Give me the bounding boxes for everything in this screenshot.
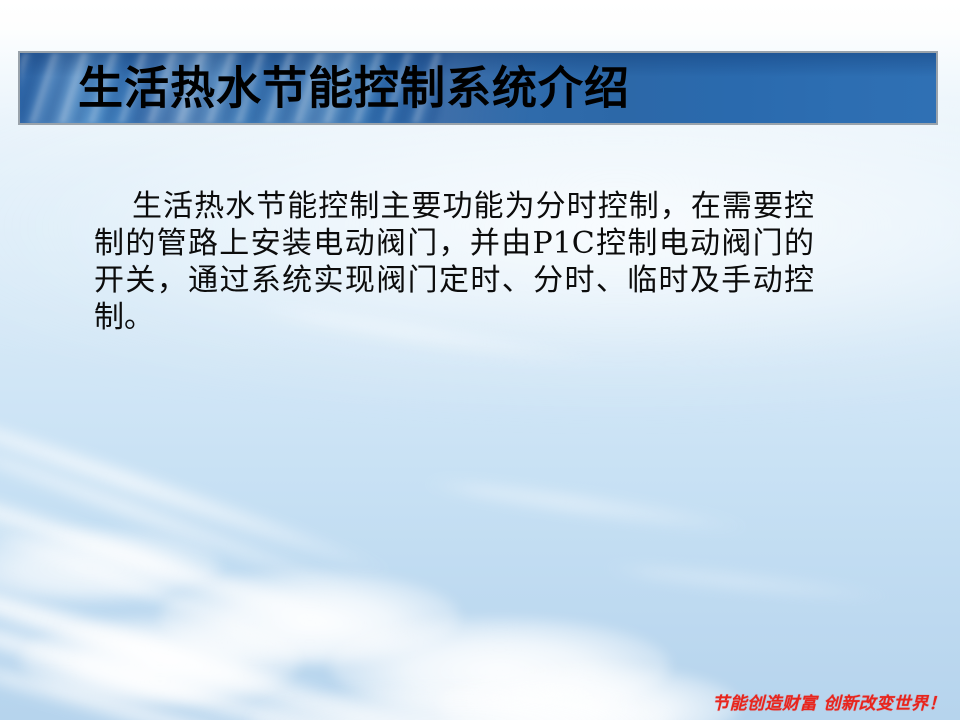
body-paragraph: 生活热水节能控制主要功能为分时控制，在需要控制的管路上安装电动阀门，并由P1C控… [94,188,814,336]
footer-slogan: 节能创造财富 创新改变世界！ [712,689,946,714]
presentation-slide: 生活热水节能控制系统介绍 生活热水节能控制主要功能为分时控制，在需要控制的管路上… [0,0,960,720]
page-title: 生活热水节能控制系统介绍 [78,66,630,111]
title-banner: 生活热水节能控制系统介绍 [18,51,938,125]
cloud-puff-icon [20,618,300,704]
